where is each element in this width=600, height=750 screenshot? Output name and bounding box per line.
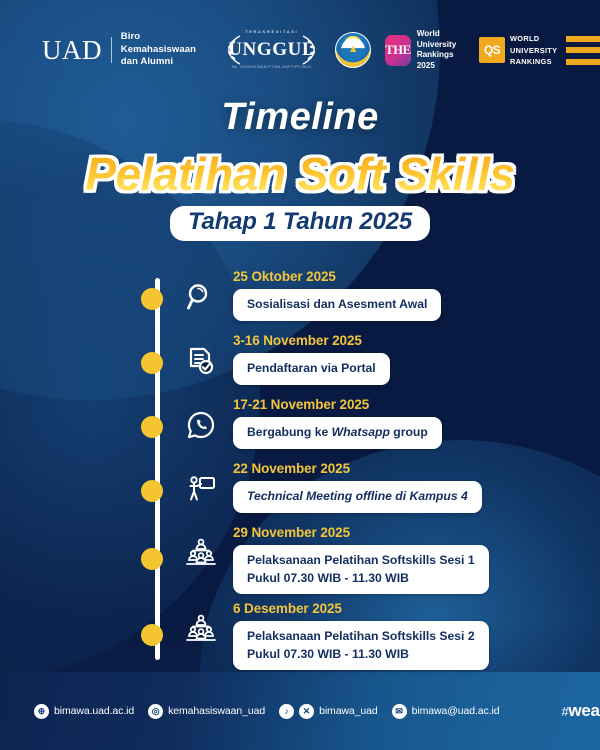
globe-icon: ⊕ [34,704,49,719]
timeline-date: 3-16 November 2025 [233,334,390,349]
qs-bar-icon [566,47,600,53]
qs-row-2: UNIVERSITY [510,46,600,55]
uad-unit-line2: dan Alumni [121,56,196,69]
instagram-icon: ◎ [148,704,163,719]
header-logo-bar: UAD Biro Kemahasiswaan dan Alumni TERAKR… [0,26,600,74]
footer-bar: ⊕ bimawa.uad.ac.id ◎ kemahasiswaan_uad ♪… [0,672,600,750]
email-icon: ✉ [392,704,407,719]
title-subtitle-wrap: Tahap 1 Tahun 2025 [0,206,600,240]
title-subtitle: Tahap 1 Tahun 2025 [170,206,430,240]
garuda-bird-icon: ▲ [348,44,359,55]
footer-email-label: bimawa@uad.ac.id [412,705,500,717]
the-badge-icon: THE [385,35,411,66]
laurel-right-icon [301,35,317,65]
uad-unit-name: Biro Kemahasiswaan dan Alumni [121,31,196,69]
timeline-item-texts: 29 November 2025 Pelaksanaan Pelatihan S… [233,526,489,594]
uad-logo: UAD Biro Kemahasiswaan dan Alumni [42,31,196,69]
footer-instagram[interactable]: ◎ kemahasiswaan_uad [148,704,265,719]
audience-icon [179,614,223,644]
the-rankings-text: World University Rankings 2025 [417,29,463,71]
timeline-section: 25 Oktober 2025 Sosialisasi dan Asesment… [0,270,600,660]
qs-mark-icon: QS [479,37,505,63]
timeline-label: Pendaftaran via Portal [233,353,390,385]
uad-unit-line1: Biro Kemahasiswaan [121,31,196,57]
unggul-decree-number: No. 2025/SK/BAN-PT/AK-ANPT/PT/2022 [222,65,321,69]
footer-social-handles[interactable]: ♪ ✕ bimawa_uad [279,704,378,719]
timeline-item-texts: 22 November 2025 Technical Meeting offli… [233,462,482,513]
timeline-label: Technical Meeting offline di Kampus 4 [233,481,482,513]
audience-icon [179,538,223,568]
logo-divider [111,37,112,63]
timeline-date: 6 Desember 2025 [233,602,489,617]
x-twitter-icon: ✕ [299,704,314,719]
unggul-accreditation-badge: TERAKREDITASI UNGGUL No. 2025/SK/BAN-PT/… [222,27,321,73]
presenter-icon [179,474,223,504]
footer-hashtag-text: weareuad [568,701,600,720]
qs-rankings-text: WORLD UNIVERSITY RANKINGS [510,34,600,66]
the-line3: Rankings 2025 [417,50,463,71]
timeline-dot [141,548,163,570]
timeline-date: 25 Oktober 2025 [233,270,441,285]
uad-wordmark: UAD [42,37,102,64]
timeline-label: Pelaksanaan Pelatihan Softskills Sesi 1 … [233,545,489,594]
timeline-label: Sosialisasi dan Asesment Awal [233,289,441,321]
timeline-item: 29 November 2025 Pelaksanaan Pelatihan S… [0,526,600,594]
footer-website[interactable]: ⊕ bimawa.uad.ac.id [34,704,134,719]
timeline-item-texts: 17-21 November 2025 Bergabung ke Whatsap… [233,398,442,449]
timeline-rows: 25 Oktober 2025 Sosialisasi dan Asesment… [0,270,600,678]
timeline-item: 22 November 2025 Technical Meeting offli… [0,462,600,518]
timeline-dot [141,480,163,502]
timeline-date-holder: 17-21 November 2025 [233,398,442,417]
laurel-left-icon [226,35,242,65]
qs-row-3: RANKINGS [510,57,600,66]
footer-social-label: bimawa_uad [319,705,378,717]
qs-bar-icon [566,59,600,65]
ministry-seal-icon: ▲ [335,32,371,68]
unggul-top-text: TERAKREDITASI [222,29,321,34]
timeline-dot [141,288,163,310]
whatsapp-icon [179,410,223,440]
timeline-date: 29 November 2025 [233,526,489,541]
timeline-item: 25 Oktober 2025 Sosialisasi dan Asesment… [0,270,600,326]
title-main: Pelatihan Soft Skills [85,150,514,198]
timeline-date: 17-21 November 2025 [233,398,442,413]
magnifier-icon [179,282,223,312]
the-line1: World [417,29,463,40]
timeline-item: 17-21 November 2025 Bergabung ke Whatsap… [0,398,600,454]
qs-row-1: WORLD [510,34,600,43]
footer-email[interactable]: ✉ bimawa@uad.ac.id [392,704,500,719]
document-check-icon [179,346,223,376]
timeline-dot [141,624,163,646]
timeline-item: 3-16 November 2025 Pendaftaran via Porta… [0,334,600,390]
qs-bar-icon [566,36,600,42]
qs-line3: RANKINGS [510,57,562,66]
qs-line1: WORLD [510,34,562,43]
title-block: Timeline Pelatihan Soft Skills Tahap 1 T… [0,98,600,241]
timeline-item: 6 Desember 2025 Pelaksanaan Pelatihan So… [0,602,600,670]
timeline-item-texts: 3-16 November 2025 Pendaftaran via Porta… [233,334,390,385]
timeline-dot [141,416,163,438]
timeline-label-text: Bergabung ke Whatsapp group [247,425,428,439]
qs-rankings-logo: QS WORLD UNIVERSITY RANKINGS [479,34,600,66]
timeline-label: Bergabung ke Whatsapp group [233,417,442,449]
footer-instagram-label: kemahasiswaan_uad [168,705,265,717]
emphasis-text: Whatsapp [332,425,390,439]
footer-hashtag: #weareuad [561,701,600,721]
qs-line2: UNIVERSITY [510,46,562,55]
timeline-item-texts: 25 Oktober 2025 Sosialisasi dan Asesment… [233,270,441,321]
seal-inner: ▲ [341,38,365,62]
the-rankings-logo: THE World University Rankings 2025 [385,29,463,71]
timeline-date: 22 November 2025 [233,462,482,477]
title-timeline: Timeline [0,98,600,136]
timeline-label: Pelaksanaan Pelatihan Softskills Sesi 2 … [233,621,489,670]
timeline-dot [141,352,163,374]
timeline-item-texts: 6 Desember 2025 Pelaksanaan Pelatihan So… [233,602,489,670]
the-line2: University [417,40,463,51]
poster-root: UAD Biro Kemahasiswaan dan Alumni TERAKR… [0,0,600,750]
tiktok-icon: ♪ [279,704,294,719]
footer-website-label: bimawa.uad.ac.id [54,705,134,717]
